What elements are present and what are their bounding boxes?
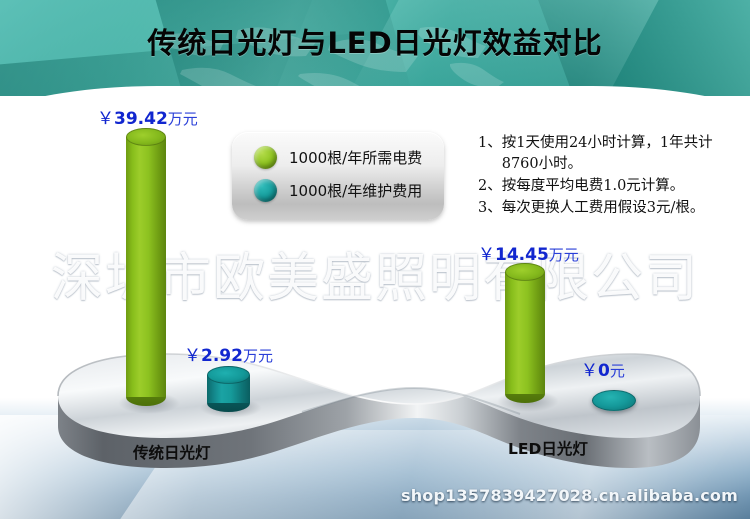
note-item: 3、 每次更换人工费用假设3元/根。 bbox=[478, 198, 746, 219]
legend-item-maintenance[interactable]: 1000根/年维护费用 bbox=[254, 179, 422, 202]
legend-green-dot-icon bbox=[254, 146, 277, 169]
unit: 元 bbox=[610, 362, 625, 380]
legend-item-electricity[interactable]: 1000根/年所需电费 bbox=[254, 146, 422, 169]
value: 0 bbox=[598, 361, 610, 381]
bar-body bbox=[505, 272, 545, 394]
category-label-led: LED日光灯 bbox=[508, 437, 588, 459]
bar-traditional-maintenance bbox=[207, 366, 250, 412]
bar-led-electricity bbox=[505, 263, 545, 403]
note-number: 2、 bbox=[478, 176, 502, 197]
label-traditional-maintenance: ￥2.92万元 bbox=[184, 341, 273, 366]
category-label-traditional: 传统日光灯 bbox=[133, 441, 211, 463]
bar-traditional-electricity bbox=[126, 128, 166, 406]
label-traditional-electricity: ￥39.42万元 bbox=[97, 104, 198, 129]
unit: 万元 bbox=[243, 347, 273, 365]
bar-led-maintenance bbox=[592, 390, 636, 411]
notes-block: 1、 按1天使用24小时计算，1年共计8760小时。 2、 按每度平均电费1.0… bbox=[478, 133, 746, 220]
note-item: 1、 按1天使用24小时计算，1年共计8760小时。 bbox=[478, 133, 746, 175]
note-text: 每次更换人工费用假设3元/根。 bbox=[502, 198, 746, 219]
note-text: 按每度平均电费1.0元计算。 bbox=[502, 176, 746, 197]
shop-url[interactable]: shop1357839427028.cn.alibaba.com bbox=[401, 486, 738, 505]
unit: 万元 bbox=[168, 110, 198, 128]
bar-top-cap bbox=[207, 366, 250, 384]
slide-canvas: 传统日光灯与LED日光灯效益对比 深圳市欧美盛照明有限公司 bbox=[0, 0, 750, 519]
yen-symbol: ￥ bbox=[184, 346, 201, 366]
legend-label: 1000根/年所需电费 bbox=[289, 147, 422, 168]
value: 14.45 bbox=[495, 245, 549, 265]
unit: 万元 bbox=[549, 246, 579, 264]
bar-top-cap bbox=[505, 263, 545, 281]
yen-symbol: ￥ bbox=[97, 109, 114, 129]
note-number: 1、 bbox=[478, 133, 502, 175]
legend-label: 1000根/年维护费用 bbox=[289, 180, 422, 201]
note-item: 2、 按每度平均电费1.0元计算。 bbox=[478, 176, 746, 197]
bar-top-cap bbox=[126, 128, 166, 146]
label-led-maintenance: ￥0元 bbox=[581, 356, 625, 381]
label-led-electricity: ￥14.45万元 bbox=[478, 240, 579, 265]
chart-legend: 1000根/年所需电费 1000根/年维护费用 bbox=[232, 132, 444, 220]
bar-body bbox=[126, 137, 166, 397]
yen-symbol: ￥ bbox=[478, 245, 495, 265]
yen-symbol: ￥ bbox=[581, 361, 598, 381]
legend-teal-dot-icon bbox=[254, 179, 277, 202]
company-watermark: 深圳市欧美盛照明有限公司 bbox=[0, 236, 750, 311]
note-text: 按1天使用24小时计算，1年共计8760小时。 bbox=[502, 133, 746, 175]
value: 39.42 bbox=[114, 109, 168, 129]
note-number: 3、 bbox=[478, 198, 502, 219]
value: 2.92 bbox=[201, 346, 243, 366]
